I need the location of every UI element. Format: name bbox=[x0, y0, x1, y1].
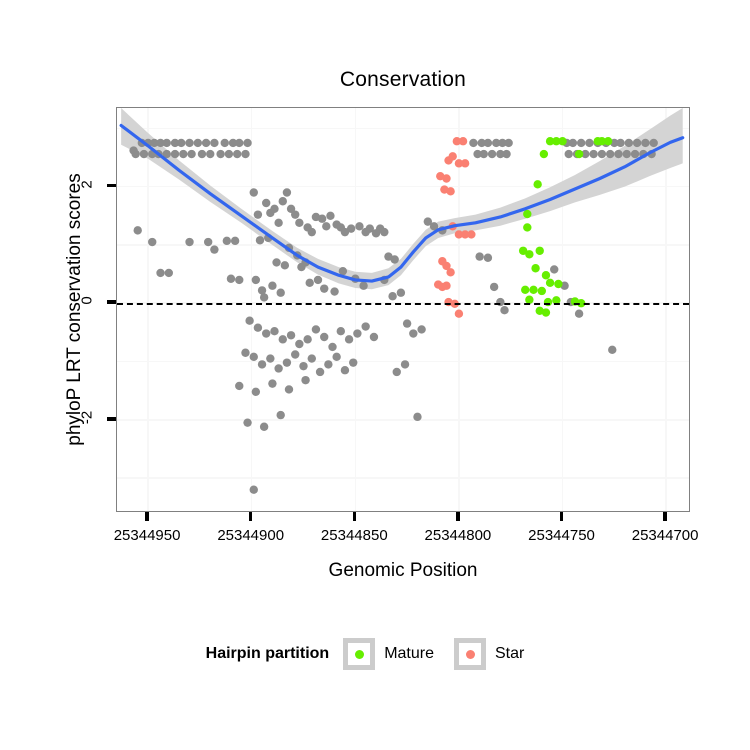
x-axis-title: Genomic Position bbox=[116, 560, 690, 582]
x-axis-tick-label: 25344750 bbox=[528, 527, 595, 544]
legend-label: Star bbox=[495, 645, 524, 663]
legend-key-swatch bbox=[343, 638, 375, 670]
legend-key-inner bbox=[459, 643, 481, 665]
chart-title: Conservation bbox=[116, 68, 690, 92]
loess-path bbox=[121, 125, 683, 281]
y-axis-title-wrap: phyloP LRT conservation scores bbox=[44, 107, 70, 512]
x-axis-tick-label: 25344950 bbox=[114, 527, 181, 544]
plot-area bbox=[117, 108, 689, 511]
x-axis-tick-label: 25344900 bbox=[217, 527, 284, 544]
zero-reference-line bbox=[117, 303, 689, 305]
legend-key-inner bbox=[348, 643, 370, 665]
legend: Hairpin partition MatureStar bbox=[0, 638, 750, 670]
x-axis-tick-mark bbox=[456, 512, 460, 521]
x-axis-tick-mark bbox=[560, 512, 564, 521]
y-axis-tick-mark bbox=[107, 417, 116, 421]
x-axis-tick-mark bbox=[249, 512, 253, 521]
x-axis-tick-mark bbox=[663, 512, 667, 521]
legend-dot-icon bbox=[466, 650, 475, 659]
loess-trend-line bbox=[117, 108, 690, 512]
conservation-chart: Conservation 20-225344950253449002534485… bbox=[0, 0, 750, 750]
x-axis-tick-label: 25344700 bbox=[632, 527, 699, 544]
y-axis-title: phyloP LRT conservation scores bbox=[64, 107, 86, 512]
plot-panel bbox=[116, 107, 690, 512]
x-axis-tick-label: 25344850 bbox=[321, 527, 388, 544]
legend-key-swatch bbox=[454, 638, 486, 670]
x-axis-tick-label: 25344800 bbox=[425, 527, 492, 544]
legend-title: Hairpin partition bbox=[206, 645, 330, 663]
legend-item-mature[interactable]: Mature bbox=[343, 638, 448, 670]
y-axis-tick-mark bbox=[107, 184, 116, 188]
legend-label: Mature bbox=[384, 645, 434, 663]
x-axis-tick-mark bbox=[353, 512, 357, 521]
legend-item-star[interactable]: Star bbox=[454, 638, 538, 670]
legend-items: MatureStar bbox=[343, 638, 544, 670]
x-axis-tick-mark bbox=[145, 512, 149, 521]
y-axis-tick-mark bbox=[107, 300, 116, 304]
legend-dot-icon bbox=[355, 650, 364, 659]
